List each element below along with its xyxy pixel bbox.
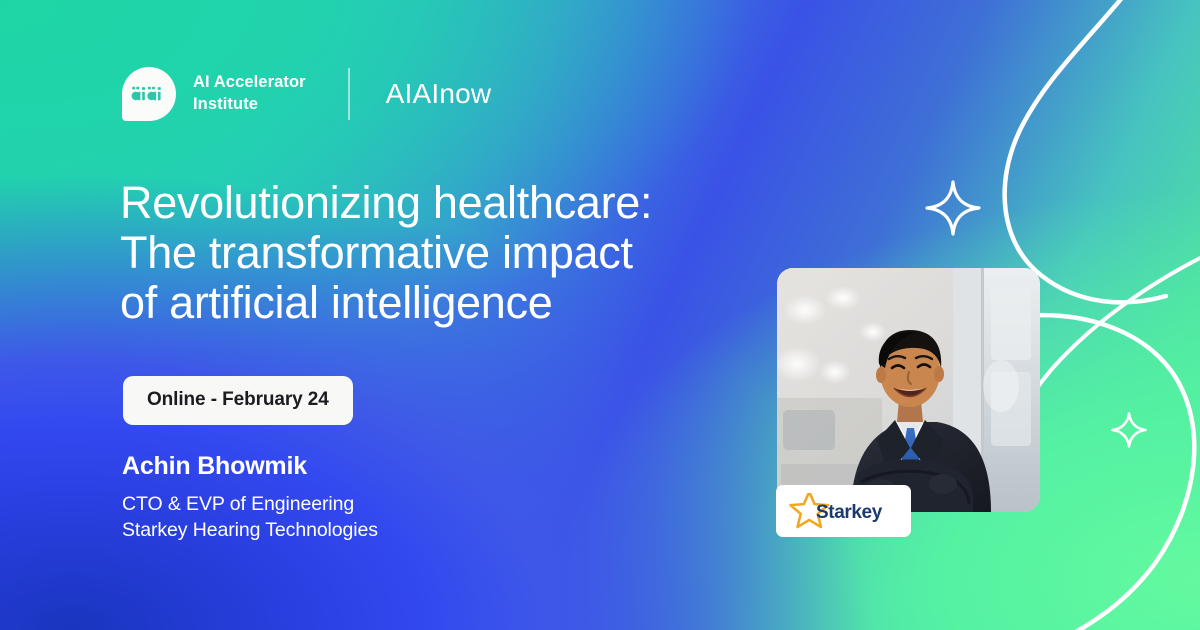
status-badge: Online - February 24 xyxy=(123,376,353,425)
swoosh-upper-path xyxy=(1005,0,1166,302)
event-promo-card: AI Accelerator Institute AIAInow Revolut… xyxy=(0,0,1200,630)
sparkle-icon xyxy=(1111,412,1147,448)
header: AI Accelerator Institute AIAInow xyxy=(122,64,491,124)
product-name[interactable]: AIAInow xyxy=(386,78,492,110)
portrait-illustration xyxy=(777,268,1040,512)
speaker-portrait xyxy=(777,268,1040,512)
speaker-role: CTO & EVP of Engineering Starkey Hearing… xyxy=(122,492,378,543)
sponsor-logo: Starkey xyxy=(776,485,911,537)
sparkle-icon xyxy=(925,180,981,236)
starkey-star-icon: Starkey xyxy=(788,493,900,529)
speaker-name: Achin Bhowmik xyxy=(122,452,378,481)
aiai-logo-icon xyxy=(122,67,176,121)
speaker-info: Achin Bhowmik CTO & EVP of Engineering S… xyxy=(122,452,378,543)
header-divider xyxy=(348,68,350,120)
brand-lockup[interactable]: AI Accelerator Institute xyxy=(122,67,306,121)
page-title: Revolutionizing healthcare: The transfor… xyxy=(120,178,740,329)
brand-name: AI Accelerator Institute xyxy=(193,72,306,116)
swoosh-lower-path xyxy=(1016,315,1194,630)
svg-text:Starkey: Starkey xyxy=(816,502,883,523)
